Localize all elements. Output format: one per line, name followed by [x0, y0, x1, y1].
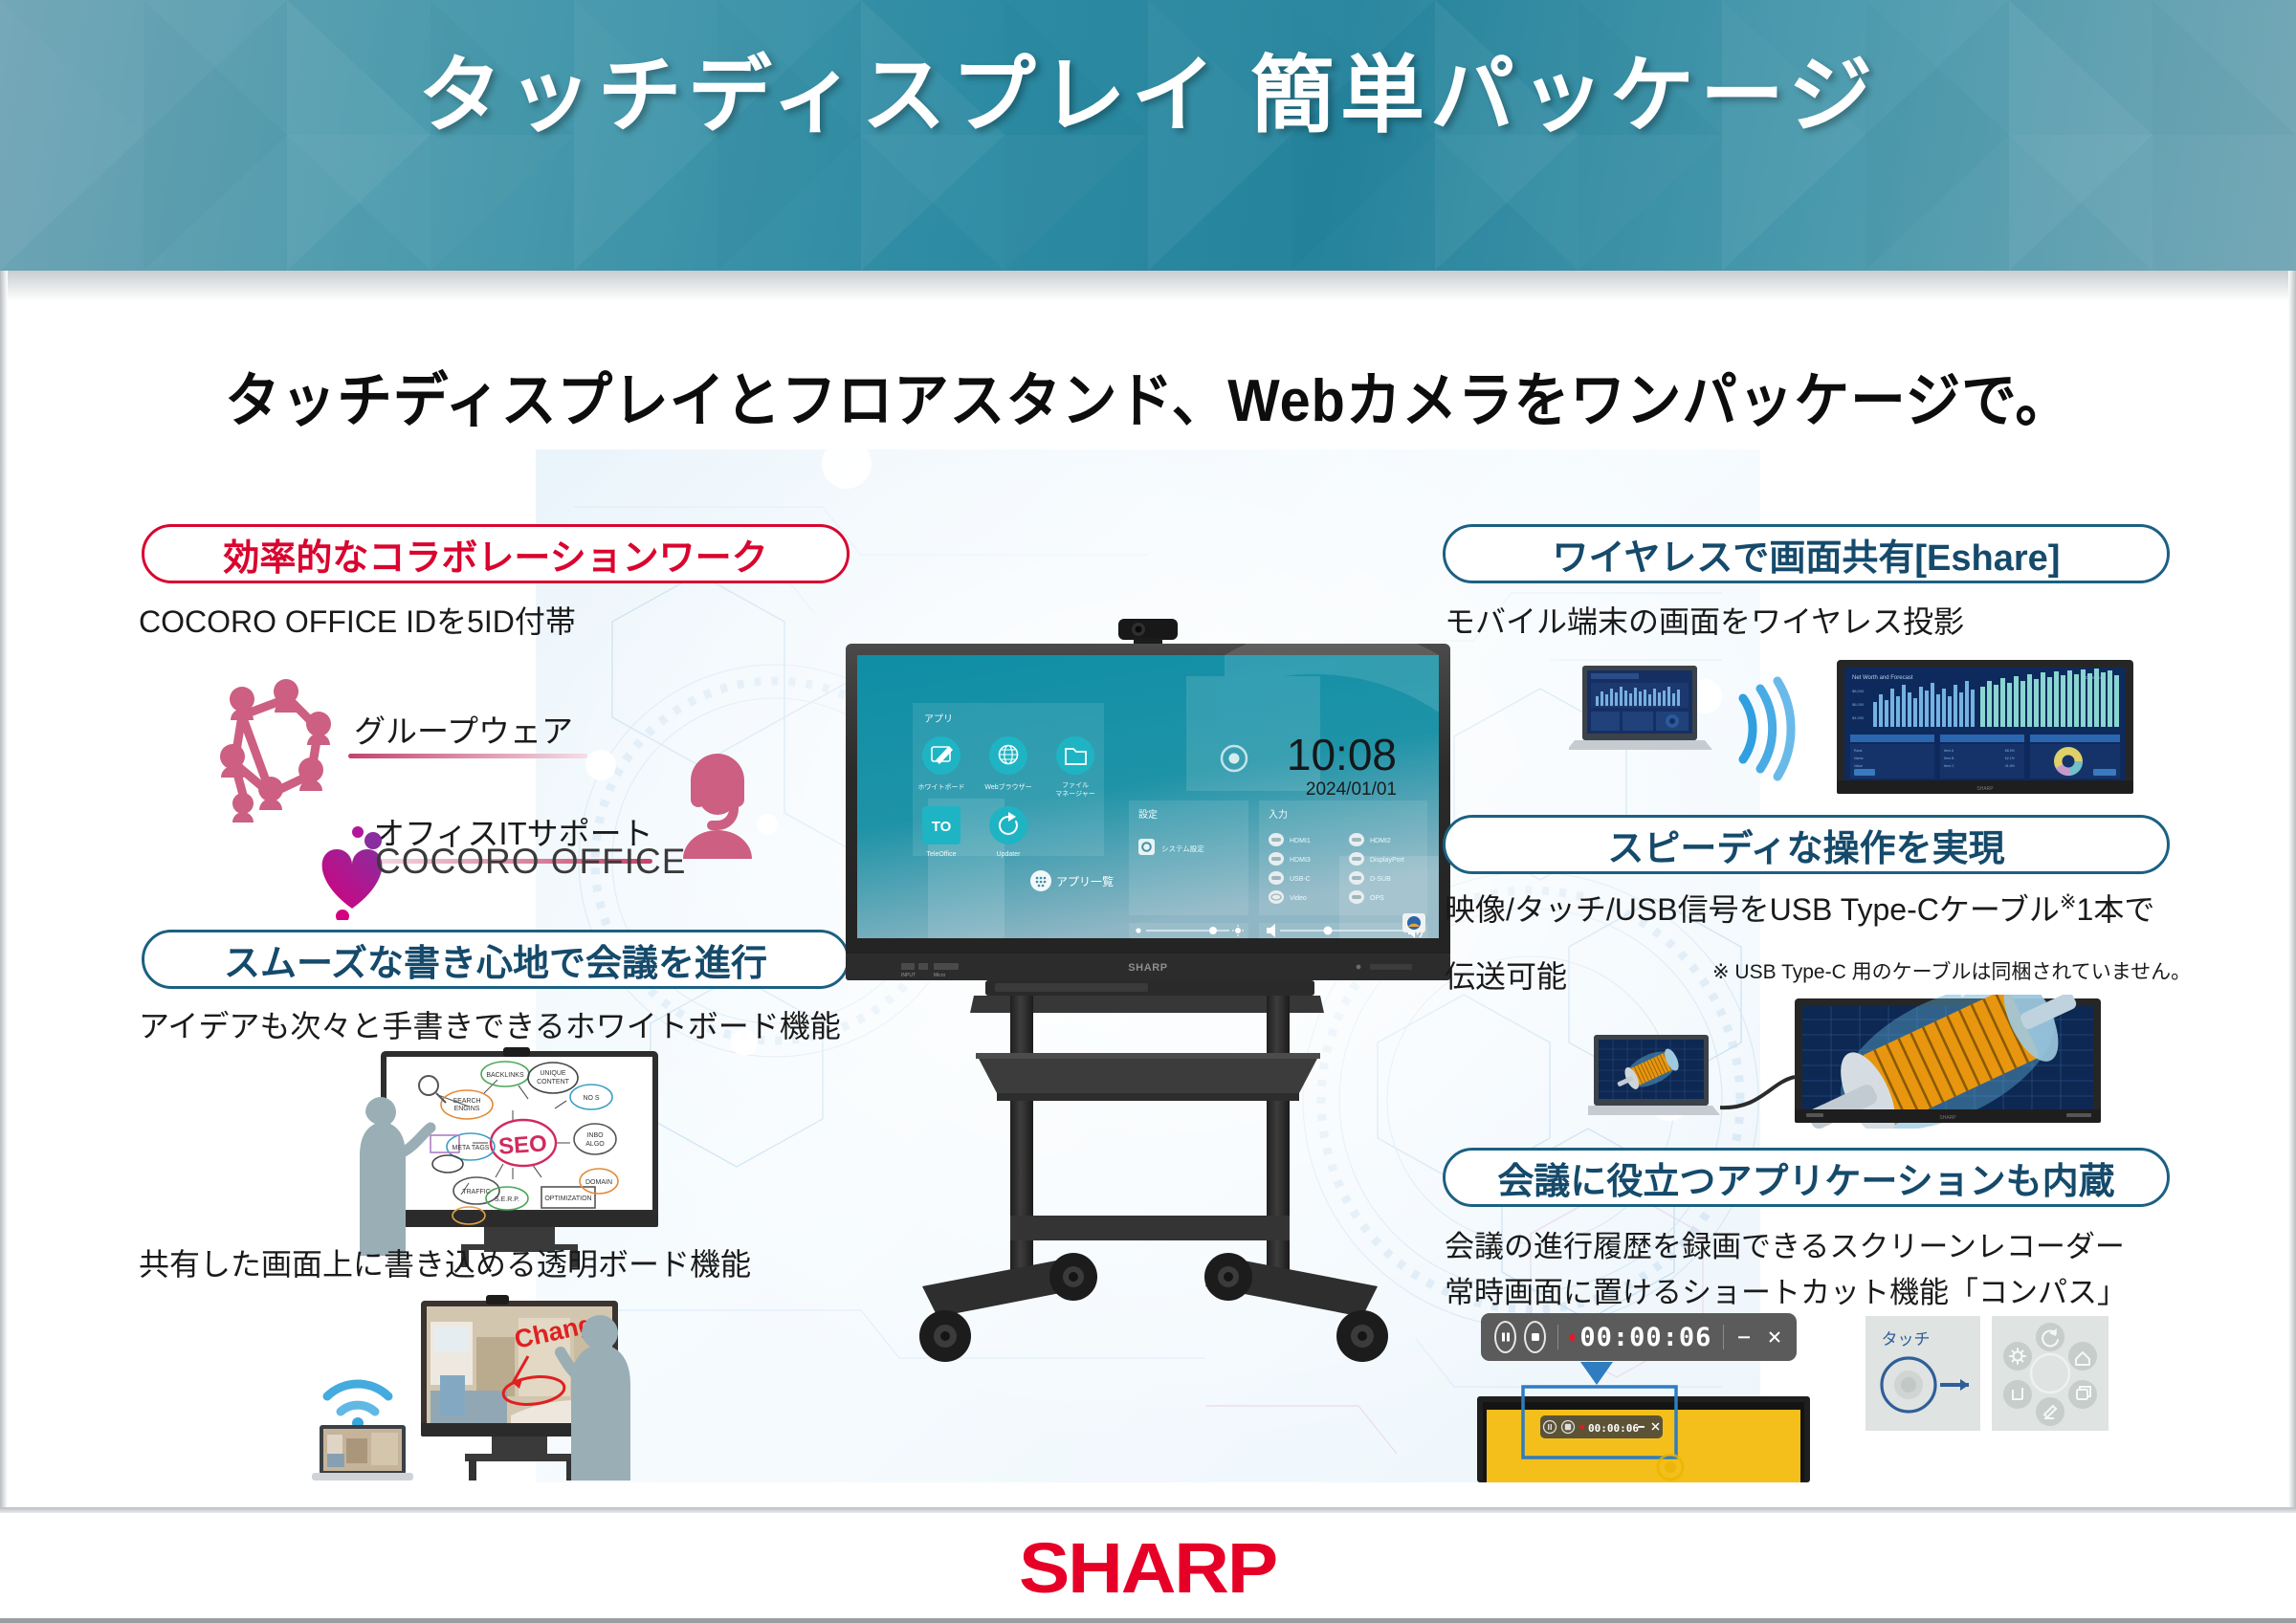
- bottom-edge: [0, 1618, 2296, 1623]
- svg-text:CONTENT: CONTENT: [537, 1079, 570, 1086]
- svg-text:DOMAIN: DOMAIN: [585, 1179, 612, 1186]
- svg-text:タッチ: タッチ: [1882, 1330, 1931, 1349]
- svg-text:OPTIMIZATION: OPTIMIZATION: [544, 1195, 591, 1202]
- svg-text:Video: Video: [1290, 895, 1307, 902]
- svg-text:UNIQUE: UNIQUE: [540, 1070, 566, 1077]
- sharp-logo: SHARP: [1020, 1527, 1277, 1609]
- svg-text:ホワイトボード: ホワイトボード: [918, 783, 965, 791]
- pause-icon[interactable]: [1494, 1321, 1516, 1353]
- section-heading-apps-label: 会議に役立つアプリケーションも内蔵: [1497, 1151, 2114, 1204]
- toolbar-divider: [1557, 1325, 1558, 1349]
- svg-text:TeleOffice: TeleOffice: [927, 851, 957, 858]
- undo-icon: [2036, 1323, 2064, 1351]
- svg-text:HDMI1: HDMI1: [1290, 838, 1311, 844]
- writing-lead-2: 共有した画面上に書き込める透明ボード機能: [139, 1240, 751, 1284]
- svg-text:INPUT: INPUT: [901, 973, 916, 978]
- svg-text:HDMI3: HDMI3: [1290, 857, 1311, 864]
- window-icon: [2068, 1380, 2097, 1409]
- header-fade-divider: [0, 271, 2296, 301]
- svg-text:SEARCH: SEARCH: [453, 1098, 480, 1105]
- poster-page: タッチディスプレイ 簡単パッケージ タッチディスプレイとフロアスタンド、Webカ…: [0, 0, 2296, 1623]
- svg-text:ALGO: ALGO: [585, 1141, 605, 1148]
- svg-text:META TAGS: META TAGS: [453, 1145, 490, 1151]
- eshare-lead-text: モバイル端末の画面をワイヤレス投影: [1445, 598, 1964, 642]
- svg-text:41.8%: 41.8%: [2005, 764, 2016, 768]
- compass-touch-panel: タッチ: [1865, 1316, 1980, 1431]
- transparent-board-illustration: Change: [277, 1289, 679, 1480]
- close-icon[interactable]: [1766, 1328, 1783, 1346]
- svg-text:設定: 設定: [1138, 809, 1158, 821]
- svg-text:入力: 入力: [1269, 808, 1288, 821]
- section-heading-writing: スムーズな書き心地で会議を進行: [142, 930, 850, 989]
- recorder-timecode: 00:00:06: [1579, 1323, 1711, 1352]
- svg-text:88.5%: 88.5%: [2005, 749, 2016, 753]
- footer: SHARP: [0, 1513, 2296, 1623]
- svg-text:$6,000: $6,000: [1852, 702, 1865, 707]
- svg-text:INBO: INBO: [586, 1132, 604, 1139]
- section-heading-apps: 会議に役立つアプリケーションも内蔵: [1443, 1148, 2170, 1207]
- svg-text:HDMI2: HDMI2: [1370, 838, 1391, 844]
- svg-text:D-SUB: D-SUB: [1370, 876, 1391, 883]
- collab-lead-text: COCORO OFFICE IDを5ID付帯: [139, 598, 576, 642]
- speedy-lead-1-text: 映像/タッチ/USB信号をUSB Type-Cケーブル: [1445, 892, 2060, 927]
- svg-text:Item C: Item C: [1944, 764, 1954, 768]
- svg-text:Rank: Rank: [1854, 749, 1863, 753]
- svg-text:Item B: Item B: [1944, 757, 1954, 760]
- right-page-edge: [2288, 271, 2296, 1514]
- svg-text:USB-C: USB-C: [1290, 876, 1311, 883]
- section-heading-speedy: スピーディな操作を実現: [1443, 815, 2170, 874]
- svg-text:マネージャー: マネージャー: [1055, 790, 1095, 798]
- network-people-icon: [204, 660, 357, 832]
- speedy-lead-1: 映像/タッチ/USB信号をUSB Type-Cケーブル※1本で: [1445, 886, 2154, 930]
- svg-text:ENGINS: ENGINS: [454, 1106, 480, 1112]
- crop-icon: [2003, 1380, 2032, 1409]
- section-heading-collab: 効率的なコラボレーションワーク: [142, 524, 850, 583]
- whiteboard-illustration: SEARCHENGINS BACKLINKS UNIQUECONTENT NO …: [316, 1047, 717, 1267]
- collab-item-label-groupware: グループウェア: [354, 706, 573, 752]
- svg-text:SHARP: SHARP: [1128, 962, 1168, 974]
- section-heading-writing-label: スムーズな書き心地で会議を進行: [224, 933, 767, 986]
- speedy-lead-1-tail: 1本で: [2077, 892, 2155, 927]
- svg-text:$4,000: $4,000: [1852, 715, 1865, 720]
- hero-touch-display: アプリ ホワイトボード Webブラウザー: [842, 617, 1454, 1372]
- speedy-lead-2: 伝送可能: [1445, 953, 1567, 997]
- svg-text:Webブラウザー: Webブラウザー: [984, 782, 1031, 791]
- page-title: タッチディスプレイ 簡単パッケージ: [0, 54, 2296, 138]
- svg-text:Updater: Updater: [997, 851, 1022, 858]
- collab-item-underline-groupware: [348, 754, 587, 758]
- section-heading-eshare-label: ワイヤレスで画面共有[Eshare]: [1553, 528, 2061, 581]
- cocoro-office-label: COCORO OFFICE: [375, 842, 686, 882]
- svg-text:DisplayPort: DisplayPort: [1370, 857, 1404, 864]
- svg-text:アプリ: アプリ: [924, 713, 953, 725]
- svg-text:SHARP: SHARP: [1939, 1115, 1956, 1121]
- section-heading-collab-label: 効率的なコラボレーションワーク: [223, 528, 767, 581]
- svg-text:Value: Value: [1854, 764, 1863, 768]
- stop-icon[interactable]: [1524, 1321, 1546, 1353]
- svg-text:00:00:06: 00:00:06: [1588, 1422, 1639, 1435]
- headset-agent-icon: [673, 736, 788, 861]
- svg-text:Micro: Micro: [934, 973, 945, 978]
- home-icon: [2068, 1342, 2097, 1371]
- speedy-lead-1-mark: ※: [2060, 891, 2077, 913]
- svg-text:2024/01/01: 2024/01/01: [1306, 779, 1397, 800]
- eshare-illustration: Net Worth and Forecast Gain/Loss $8,000$…: [1569, 660, 2143, 794]
- pen-icon: [2036, 1397, 2064, 1426]
- svg-text:BACKLINKS: BACKLINKS: [486, 1072, 524, 1079]
- minimize-icon[interactable]: [1735, 1328, 1753, 1346]
- svg-text:SEO: SEO: [497, 1130, 547, 1159]
- svg-text:OPS: OPS: [1370, 895, 1384, 902]
- svg-text:62.1%: 62.1%: [2005, 757, 2016, 760]
- header-band: タッチディスプレイ 簡単パッケージ: [0, 0, 2296, 271]
- svg-text:Net Worth and Forecast: Net Worth and Forecast: [1852, 675, 1913, 681]
- svg-text:ファイル: ファイル: [1062, 781, 1089, 789]
- usb-typec-illustration: SHARP: [1588, 995, 2162, 1129]
- screen-recorder-toolbar[interactable]: 00:00:06: [1481, 1313, 1797, 1361]
- speedy-footnote: ※ USB Type-C 用のケーブルは同梱されていません。: [1712, 956, 2191, 985]
- gear-icon: [2003, 1342, 2032, 1371]
- section-heading-eshare: ワイヤレスで画面共有[Eshare]: [1443, 524, 2170, 583]
- section-heading-speedy-label: スピーディな操作を実現: [1607, 819, 2004, 871]
- svg-text:10:08: 10:08: [1287, 730, 1397, 779]
- subtitle: タッチディスプレイとフロアスタンド、Webカメラをワンパッケージで。: [80, 352, 2216, 438]
- svg-text:$8,000: $8,000: [1852, 689, 1865, 693]
- svg-text:Item A: Item A: [1944, 749, 1954, 753]
- svg-text:システム設定: システム設定: [1161, 844, 1204, 853]
- svg-text:S.E.R.P.: S.E.R.P.: [495, 1196, 519, 1203]
- svg-text:SHARP: SHARP: [1976, 786, 1994, 792]
- recorder-thumbnail-illustration: 00:00:06: [1473, 1358, 1856, 1482]
- svg-text:アプリ一覧: アプリ一覧: [1056, 875, 1114, 888]
- recording-indicator-dot: [1570, 1333, 1576, 1342]
- apps-lead-2: 常時画面に置けるショートカット機能「コンパス」: [1445, 1268, 2127, 1311]
- svg-text:Name: Name: [1854, 757, 1864, 760]
- svg-text:TRAFFIC: TRAFFIC: [462, 1189, 491, 1195]
- toolbar-divider-2: [1723, 1325, 1724, 1349]
- svg-text:NO S: NO S: [583, 1095, 599, 1102]
- left-page-edge: [0, 271, 8, 1514]
- svg-text:TO: TO: [932, 819, 952, 835]
- writing-lead-1: アイデアも次々と手書きできるホワイトボード機能: [139, 1002, 841, 1046]
- apps-lead-1: 会議の進行履歴を録画できるスクリーンレコーダー: [1445, 1222, 2125, 1265]
- compass-menu-panel[interactable]: [1992, 1316, 2108, 1431]
